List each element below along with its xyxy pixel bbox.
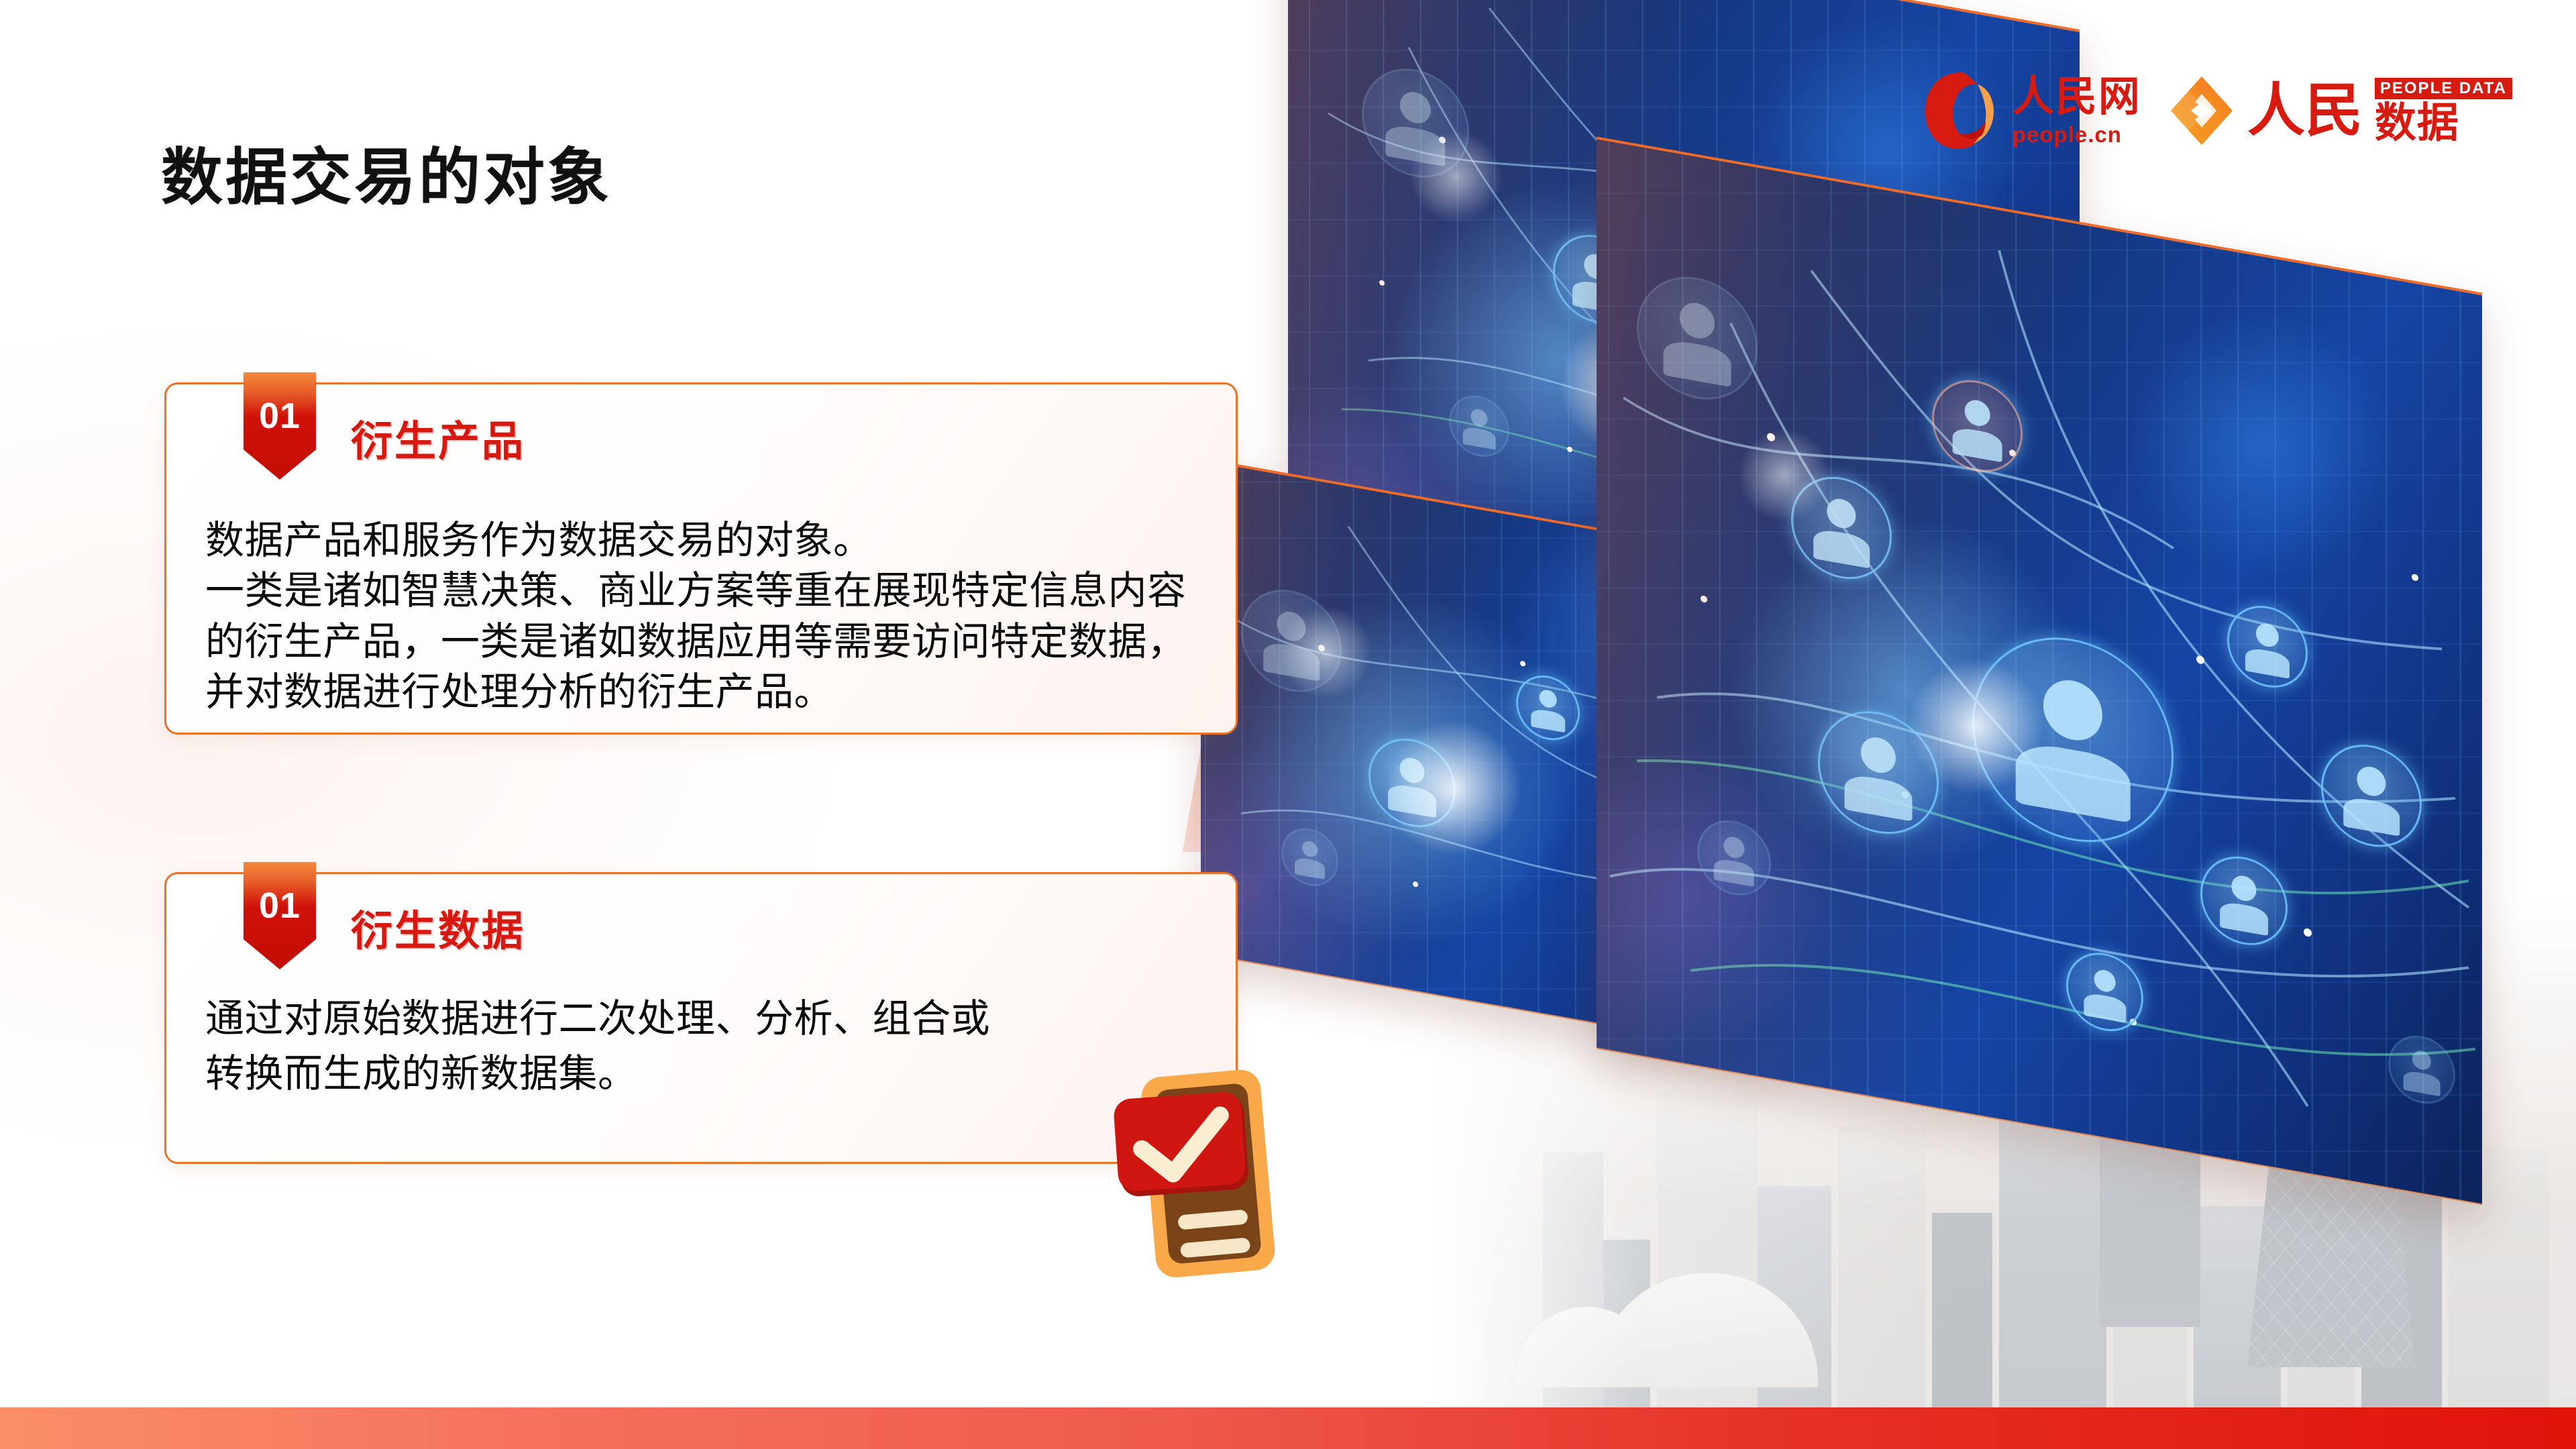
content-card-derivative-data[interactable]: 01 衍生数据 通过对原始数据进行二次处理、分析、组合或 转换而生成的新数据集。 xyxy=(164,872,1238,1164)
logo-people-cn-latin: people.cn xyxy=(2012,123,2141,146)
card-number-label: 01 xyxy=(259,885,301,926)
card-body-text: 通过对原始数据进行二次处理、分析、组合或 转换而生成的新数据集。 xyxy=(205,991,1203,1102)
logo-people-data-ren: 人民 xyxy=(2247,82,2363,140)
card-number-badge: 01 xyxy=(244,372,316,480)
hero-illustration xyxy=(1087,0,2576,1407)
logo-people-cn-chinese: 人民网 xyxy=(2012,76,2141,118)
network-panel-main xyxy=(1597,137,2482,1205)
people-data-ribbon-icon xyxy=(2168,74,2235,148)
card-title: 衍生产品 xyxy=(351,407,525,468)
card-number-label: 01 xyxy=(259,395,301,437)
logo-group: 人民网 people.cn 人民 PEOPLE DATA xyxy=(1921,64,2512,158)
logo-people-cn[interactable]: 人民网 people.cn xyxy=(1921,70,2141,152)
card-title: 衍生数据 xyxy=(351,897,525,957)
content-card-derivative-product[interactable]: 01 衍生产品 数据产品和服务作为数据交易的对象。 一类是诸如智慧决策、商业方案… xyxy=(164,382,1238,735)
clipboard-check-icon xyxy=(1107,1060,1301,1288)
page-title: 数据交易的对象 xyxy=(161,127,612,217)
logo-people-data[interactable]: 人民 PEOPLE DATA 数据 xyxy=(2168,74,2512,148)
card-number-badge: 01 xyxy=(244,862,316,969)
bottom-accent-bar xyxy=(0,1407,2576,1449)
logo-people-data-chinese: 数据 xyxy=(2375,103,2512,144)
card-body-text: 数据产品和服务作为数据交易的对象。 一类是诸如智慧决策、商业方案等重在展现特定信… xyxy=(205,515,1203,718)
slide-root: 数据交易的对象 01 衍生产品 数据产品和服务作为数据交易的对象。 一类是诸如智… xyxy=(0,0,2576,1449)
people-cn-swirl-icon xyxy=(1921,70,2000,152)
logo-people-data-latin: PEOPLE DATA xyxy=(2375,78,2512,99)
